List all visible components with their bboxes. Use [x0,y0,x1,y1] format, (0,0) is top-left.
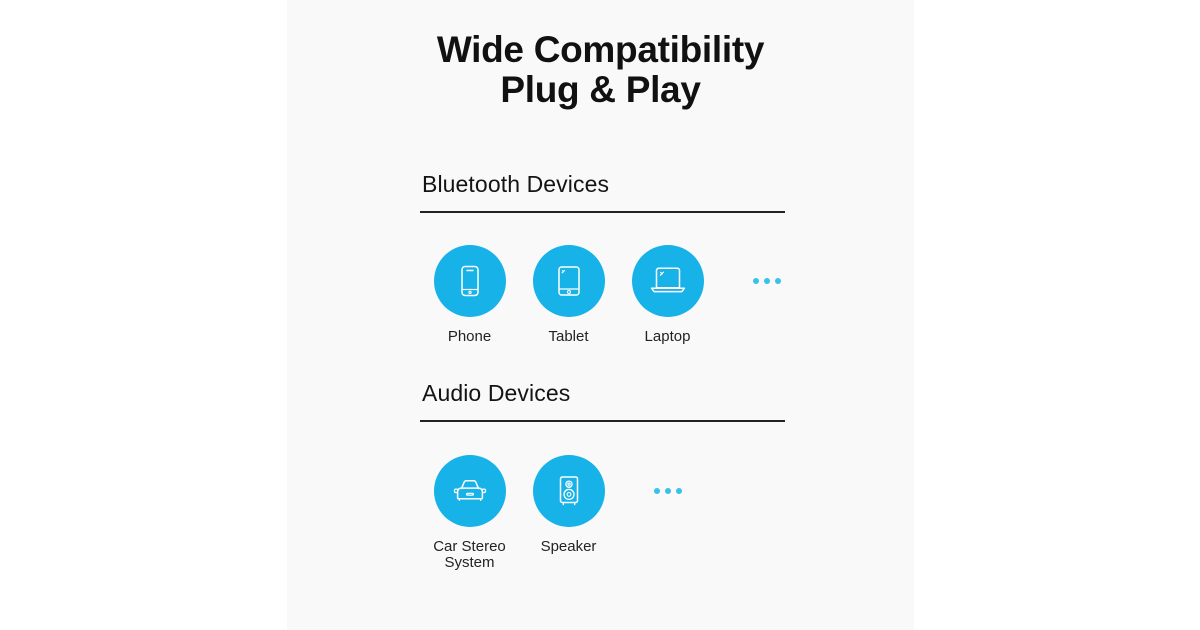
section-heading-audio: Audio Devices [420,379,785,407]
ellipsis-dot [654,488,660,494]
section-audio-devices: Audio Devices [420,379,785,422]
device-row-audio: Car Stereo System Speaker [420,455,717,570]
device-label-phone: Phone [448,329,491,345]
tablet-icon [549,261,589,301]
device-icon-badge-speaker [533,455,605,527]
laptop-icon [647,260,689,302]
device-row-bluetooth: Phone Tablet [420,245,816,345]
speaker-icon [548,470,590,512]
content-panel: Wide Compatibility Plug & Play Bluetooth… [287,0,914,630]
device-item-car-stereo-system[interactable]: Car Stereo System [420,455,519,570]
smartphone-icon [450,261,490,301]
section-heading-bluetooth: Bluetooth Devices [420,170,785,198]
more-devices-ellipsis-bluetooth[interactable] [717,245,816,317]
section-bluetooth-devices: Bluetooth Devices [420,170,785,213]
ellipsis-dot [764,278,770,284]
device-icon-badge-tablet [533,245,605,317]
device-label-car-stereo-system: Car Stereo System [433,539,506,570]
device-icon-badge-laptop [632,245,704,317]
device-item-laptop[interactable]: Laptop [618,245,717,345]
device-item-phone[interactable]: Phone [420,245,519,345]
device-label-laptop: Laptop [645,329,691,345]
section-divider-bluetooth [420,211,785,213]
page-title-line-1: Wide Compatibility [287,30,914,70]
page-title-line-2: Plug & Play [287,70,914,110]
device-icon-badge-phone [434,245,506,317]
ellipsis-dot [676,488,682,494]
ellipsis-dot [775,278,781,284]
ellipsis-dot [665,488,671,494]
page-title: Wide Compatibility Plug & Play [287,30,914,110]
device-item-tablet[interactable]: Tablet [519,245,618,345]
device-label-speaker: Speaker [541,539,597,555]
ellipsis-dot [753,278,759,284]
device-icon-badge-car-stereo-system [434,455,506,527]
screenshot-root: Wide Compatibility Plug & Play Bluetooth… [0,0,1200,630]
device-label-tablet: Tablet [548,329,588,345]
section-divider-audio [420,420,785,422]
car-icon [449,470,491,512]
device-item-speaker[interactable]: Speaker [519,455,618,555]
more-devices-ellipsis-audio[interactable] [618,455,717,527]
